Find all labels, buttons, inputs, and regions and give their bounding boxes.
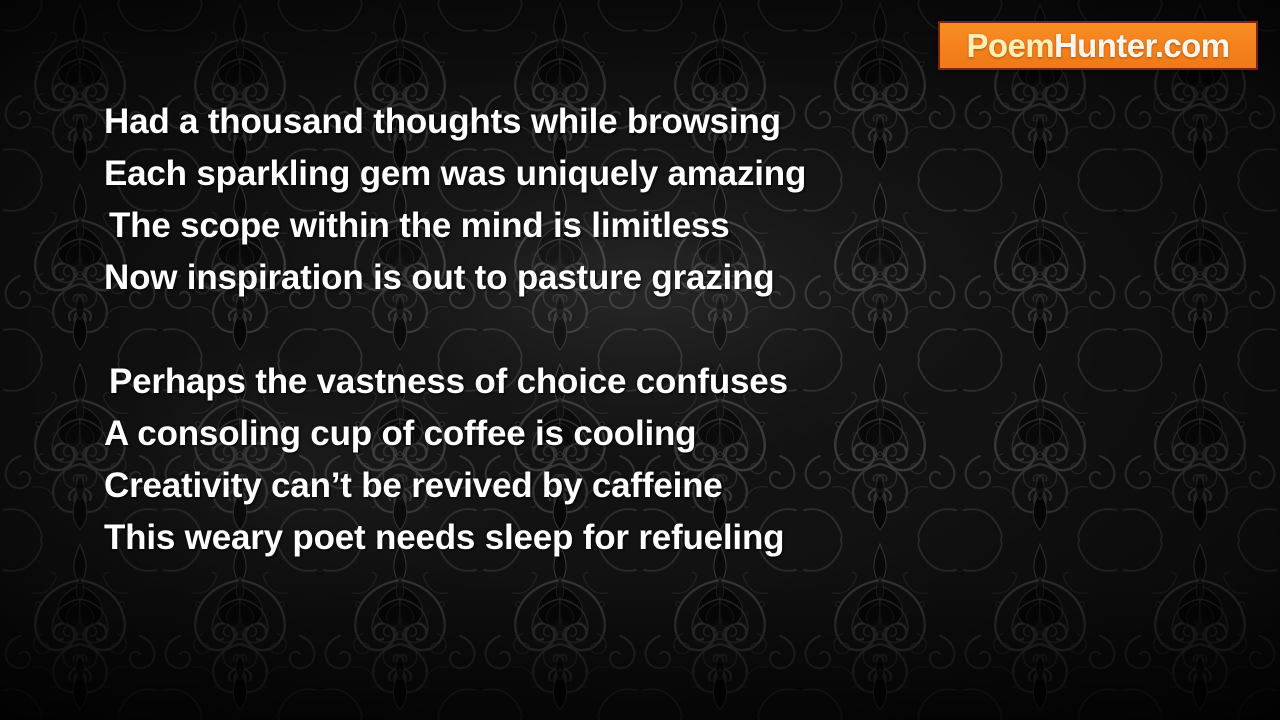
poem-line: Had a thousand thoughts while browsing: [104, 96, 864, 148]
poem-line: Creativity can’t be revived by caffeine: [104, 460, 864, 512]
stanza-break: [104, 304, 864, 356]
logo-text-poem: Poem: [966, 27, 1053, 64]
poem-line: The scope within the mind is limitless: [104, 200, 864, 252]
poemhunter-logo-badge[interactable]: PoemHunter.com: [938, 21, 1258, 70]
logo-text-hunter-com: Hunter.com: [1054, 27, 1230, 64]
poem-line: A consoling cup of coffee is cooling: [104, 408, 864, 460]
poem-line: Perhaps the vastness of choice confuses: [104, 356, 864, 408]
poem-text-block: Had a thousand thoughts while browsing E…: [104, 96, 864, 564]
poem-line: Now inspiration is out to pasture grazin…: [104, 252, 864, 304]
poem-line: This weary poet needs sleep for refuelin…: [104, 512, 864, 564]
poem-image-canvas: Had a thousand thoughts while browsing E…: [0, 0, 1280, 720]
poemhunter-logo-text: PoemHunter.com: [966, 29, 1229, 62]
poem-line: Each sparkling gem was uniquely amazing: [104, 148, 864, 200]
